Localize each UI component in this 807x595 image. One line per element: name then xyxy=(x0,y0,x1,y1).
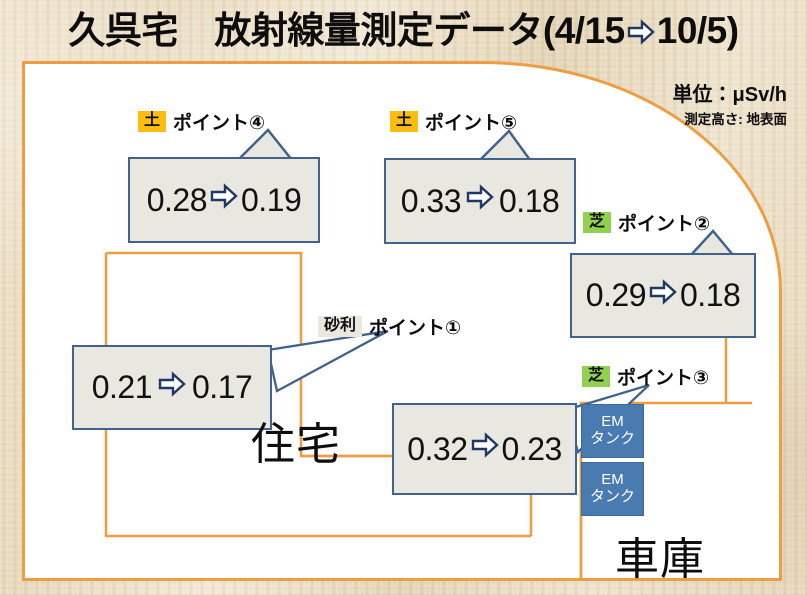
callout-p2[interactable]: 0.29 0.18 xyxy=(570,253,756,338)
arrow-right-icon xyxy=(154,369,190,407)
callout-p1[interactable]: 0.21 0.17 xyxy=(72,345,272,430)
arrow-right-icon xyxy=(463,182,497,220)
surface-badge-lawn: 芝 xyxy=(582,366,610,387)
reading-after-p4: 0.19 xyxy=(241,182,301,219)
surface-badge-gravel: 砂利 xyxy=(318,316,362,337)
point-label-p1: ポイント① xyxy=(369,313,461,340)
em-tank-lower-line1: EM xyxy=(601,472,624,489)
em-tank-upper-line1: EM xyxy=(601,414,624,431)
arrow-right-icon xyxy=(470,430,500,468)
callout-p3[interactable]: 0.32 0.23 xyxy=(392,403,577,495)
reading-before-p4: 0.28 xyxy=(147,182,207,219)
garage-label: 車庫 xyxy=(615,523,705,587)
reading-before-p2: 0.29 xyxy=(586,277,646,314)
callout-p5[interactable]: 0.33 0.18 xyxy=(384,158,576,244)
surface-badge-lawn: 芝 xyxy=(583,212,611,233)
reading-p5: 0.33 0.18 xyxy=(401,182,560,220)
surface-badge-soil: 土 xyxy=(390,111,418,132)
point-tag-p2[interactable]: 芝 ポイント② xyxy=(583,209,710,236)
point-label-p2: ポイント② xyxy=(618,209,710,236)
reading-after-p3: 0.23 xyxy=(502,431,562,468)
reading-after-p2: 0.18 xyxy=(680,277,740,314)
surface-badge-soil: 土 xyxy=(138,111,166,132)
point-label-p5: ポイント⑤ xyxy=(425,108,517,135)
callout-tail-p1 xyxy=(268,331,388,391)
point-tag-p3[interactable]: 芝 ポイント③ xyxy=(582,363,709,390)
reading-p1: 0.21 0.17 xyxy=(92,369,253,407)
point-tag-p5[interactable]: 土 ポイント⑤ xyxy=(390,108,517,135)
em-tank-upper-line2: タンク xyxy=(590,431,635,448)
reading-before-p3: 0.32 xyxy=(407,431,467,468)
reading-after-p5: 0.18 xyxy=(499,183,559,220)
reading-p4: 0.28 0.19 xyxy=(147,181,302,219)
point-tag-p1[interactable]: 砂利 ポイント① xyxy=(318,313,461,340)
point-tag-p4[interactable]: 土 ポイント④ xyxy=(138,108,265,135)
callout-p4[interactable]: 0.28 0.19 xyxy=(128,157,320,243)
em-tank-lower-line2: タンク xyxy=(590,489,635,506)
reading-before-p1: 0.21 xyxy=(92,369,152,406)
house-label: 住宅 xyxy=(251,408,341,472)
point-label-p4: ポイント④ xyxy=(173,108,265,135)
reading-p3: 0.32 0.23 xyxy=(407,430,562,468)
point-label-p3: ポイント③ xyxy=(617,363,709,390)
arrow-right-icon xyxy=(648,277,678,315)
em-tank-upper[interactable]: EM タンク xyxy=(581,404,644,458)
reading-p2: 0.29 0.18 xyxy=(586,277,741,315)
arrow-right-icon xyxy=(209,181,239,219)
reading-after-p1: 0.17 xyxy=(192,369,252,406)
reading-before-p5: 0.33 xyxy=(401,183,461,220)
em-tank-lower[interactable]: EM タンク xyxy=(581,462,644,516)
callout-tail-p5 xyxy=(480,131,530,160)
